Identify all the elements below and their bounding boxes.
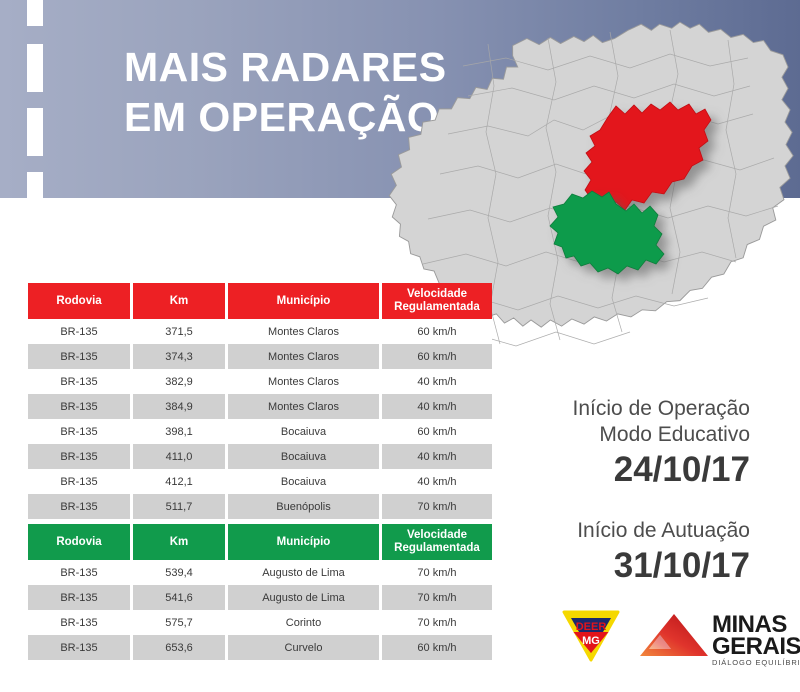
- column-header-rodovia: Rodovia: [28, 283, 130, 319]
- minas-gerais-logo: MINAS GERAIS DIÁLOGO EQUILÍBRIO TRABALHO: [638, 608, 800, 672]
- cell-rodovia: BR-135: [28, 635, 130, 660]
- cell-velocidade: 40 km/h: [382, 369, 492, 394]
- cell-velocidade: 70 km/h: [382, 585, 492, 610]
- cell-municipio: Montes Claros: [228, 344, 379, 369]
- deer-logo-text-line2: MG: [582, 635, 600, 647]
- cell-rodovia: BR-135: [28, 494, 130, 519]
- table-row: BR-135 653,6 Curvelo 60 km/h: [28, 635, 492, 660]
- cell-rodovia: BR-135: [28, 394, 130, 419]
- cell-velocidade: 60 km/h: [382, 319, 492, 344]
- column-header-rodovia: Rodovia: [28, 524, 130, 560]
- cell-km: 411,0: [133, 444, 225, 469]
- cell-rodovia: BR-135: [28, 560, 130, 585]
- column-header-municipio: Município: [228, 283, 379, 319]
- cell-km: 371,5: [133, 319, 225, 344]
- column-header-km: Km: [133, 524, 225, 560]
- cell-km: 653,6: [133, 635, 225, 660]
- road-dash: [27, 0, 43, 26]
- table-header-row: Rodovia Km Município Velocidade Regulame…: [28, 283, 492, 319]
- cell-municipio: Buenópolis: [228, 494, 379, 519]
- cell-rodovia: BR-135: [28, 319, 130, 344]
- cell-municipio: Bocaiuva: [228, 419, 379, 444]
- column-header-municipio: Município: [228, 524, 379, 560]
- mg-logo-text-line2: GERAIS: [712, 633, 800, 660]
- table-row: BR-135 541,6 Augusto de Lima 70 km/h: [28, 585, 492, 610]
- cell-municipio: Montes Claros: [228, 394, 379, 419]
- date-block-autuacao: Início de Autuação 31/10/17: [577, 518, 750, 587]
- table-row: BR-135 371,5 Montes Claros 60 km/h: [28, 319, 492, 344]
- cell-municipio: Montes Claros: [228, 369, 379, 394]
- cell-municipio: Corinto: [228, 610, 379, 635]
- table-row: BR-135 539,4 Augusto de Lima 70 km/h: [28, 560, 492, 585]
- table-row: BR-135 575,7 Corinto 70 km/h: [28, 610, 492, 635]
- cell-km: 382,9: [133, 369, 225, 394]
- cell-velocidade: 60 km/h: [382, 419, 492, 444]
- mg-mountain-shape: [640, 614, 708, 656]
- table-row: BR-135 398,1 Bocaiuva 60 km/h: [28, 419, 492, 444]
- table-row: BR-135 412,1 Bocaiuva 40 km/h: [28, 469, 492, 494]
- cell-municipio: Augusto de Lima: [228, 585, 379, 610]
- infographic-root: MAIS RADARES EM OPERAÇÃO: [0, 0, 800, 692]
- table-row: BR-135 511,7 Buenópolis 70 km/h: [28, 494, 492, 519]
- cell-velocidade: 40 km/h: [382, 444, 492, 469]
- cell-municipio: Curvelo: [228, 635, 379, 660]
- cell-km: 398,1: [133, 419, 225, 444]
- cell-municipio: Bocaiuva: [228, 444, 379, 469]
- cell-velocidade: 70 km/h: [382, 494, 492, 519]
- mg-logo-tagline: DIÁLOGO EQUILÍBRIO TRABALHO: [712, 658, 800, 667]
- cell-rodovia: BR-135: [28, 444, 130, 469]
- road-dash: [27, 172, 43, 220]
- date-value: 24/10/17: [573, 449, 750, 491]
- cell-rodovia: BR-135: [28, 344, 130, 369]
- cell-municipio: Bocaiuva: [228, 469, 379, 494]
- cell-km: 541,6: [133, 585, 225, 610]
- cell-municipio: Augusto de Lima: [228, 560, 379, 585]
- road-dash: [27, 108, 43, 156]
- radar-table-green: Rodovia Km Município Velocidade Regulame…: [28, 524, 492, 660]
- cell-km: 511,7: [133, 494, 225, 519]
- table-row: BR-135 382,9 Montes Claros 40 km/h: [28, 369, 492, 394]
- date-label: Início de Operação Modo Educativo: [573, 396, 750, 448]
- column-header-km: Km: [133, 283, 225, 319]
- table-row: BR-135 384,9 Montes Claros 40 km/h: [28, 394, 492, 419]
- date-block-modo-educativo: Início de Operação Modo Educativo 24/10/…: [573, 396, 750, 491]
- date-value: 31/10/17: [577, 545, 750, 587]
- cell-rodovia: BR-135: [28, 469, 130, 494]
- cell-municipio: Montes Claros: [228, 319, 379, 344]
- cell-velocidade: 70 km/h: [382, 560, 492, 585]
- road-dash-decoration: [27, 0, 43, 198]
- table-row: BR-135 374,3 Montes Claros 60 km/h: [28, 344, 492, 369]
- cell-velocidade: 60 km/h: [382, 635, 492, 660]
- column-header-velocidade: Velocidade Regulamentada: [382, 524, 492, 560]
- cell-km: 374,3: [133, 344, 225, 369]
- radar-table-red: Rodovia Km Município Velocidade Regulame…: [28, 283, 492, 519]
- cell-velocidade: 40 km/h: [382, 394, 492, 419]
- deer-mg-logo: DEER MG: [560, 608, 622, 664]
- date-label: Início de Autuação: [577, 518, 750, 544]
- logo-row: DEER MG MINAS GERAIS DIÁLOGO EQUILÍB: [560, 608, 800, 678]
- cell-velocidade: 40 km/h: [382, 469, 492, 494]
- cell-rodovia: BR-135: [28, 419, 130, 444]
- deer-logo-text-line1: DEER: [576, 621, 607, 633]
- cell-velocidade: 70 km/h: [382, 610, 492, 635]
- table-header-row: Rodovia Km Município Velocidade Regulame…: [28, 524, 492, 560]
- cell-rodovia: BR-135: [28, 585, 130, 610]
- cell-km: 575,7: [133, 610, 225, 635]
- cell-velocidade: 60 km/h: [382, 344, 492, 369]
- column-header-velocidade: Velocidade Regulamentada: [382, 283, 492, 319]
- table-row: BR-135 411,0 Bocaiuva 40 km/h: [28, 444, 492, 469]
- cell-km: 384,9: [133, 394, 225, 419]
- cell-km: 412,1: [133, 469, 225, 494]
- cell-km: 539,4: [133, 560, 225, 585]
- road-dash: [27, 44, 43, 92]
- cell-rodovia: BR-135: [28, 610, 130, 635]
- cell-rodovia: BR-135: [28, 369, 130, 394]
